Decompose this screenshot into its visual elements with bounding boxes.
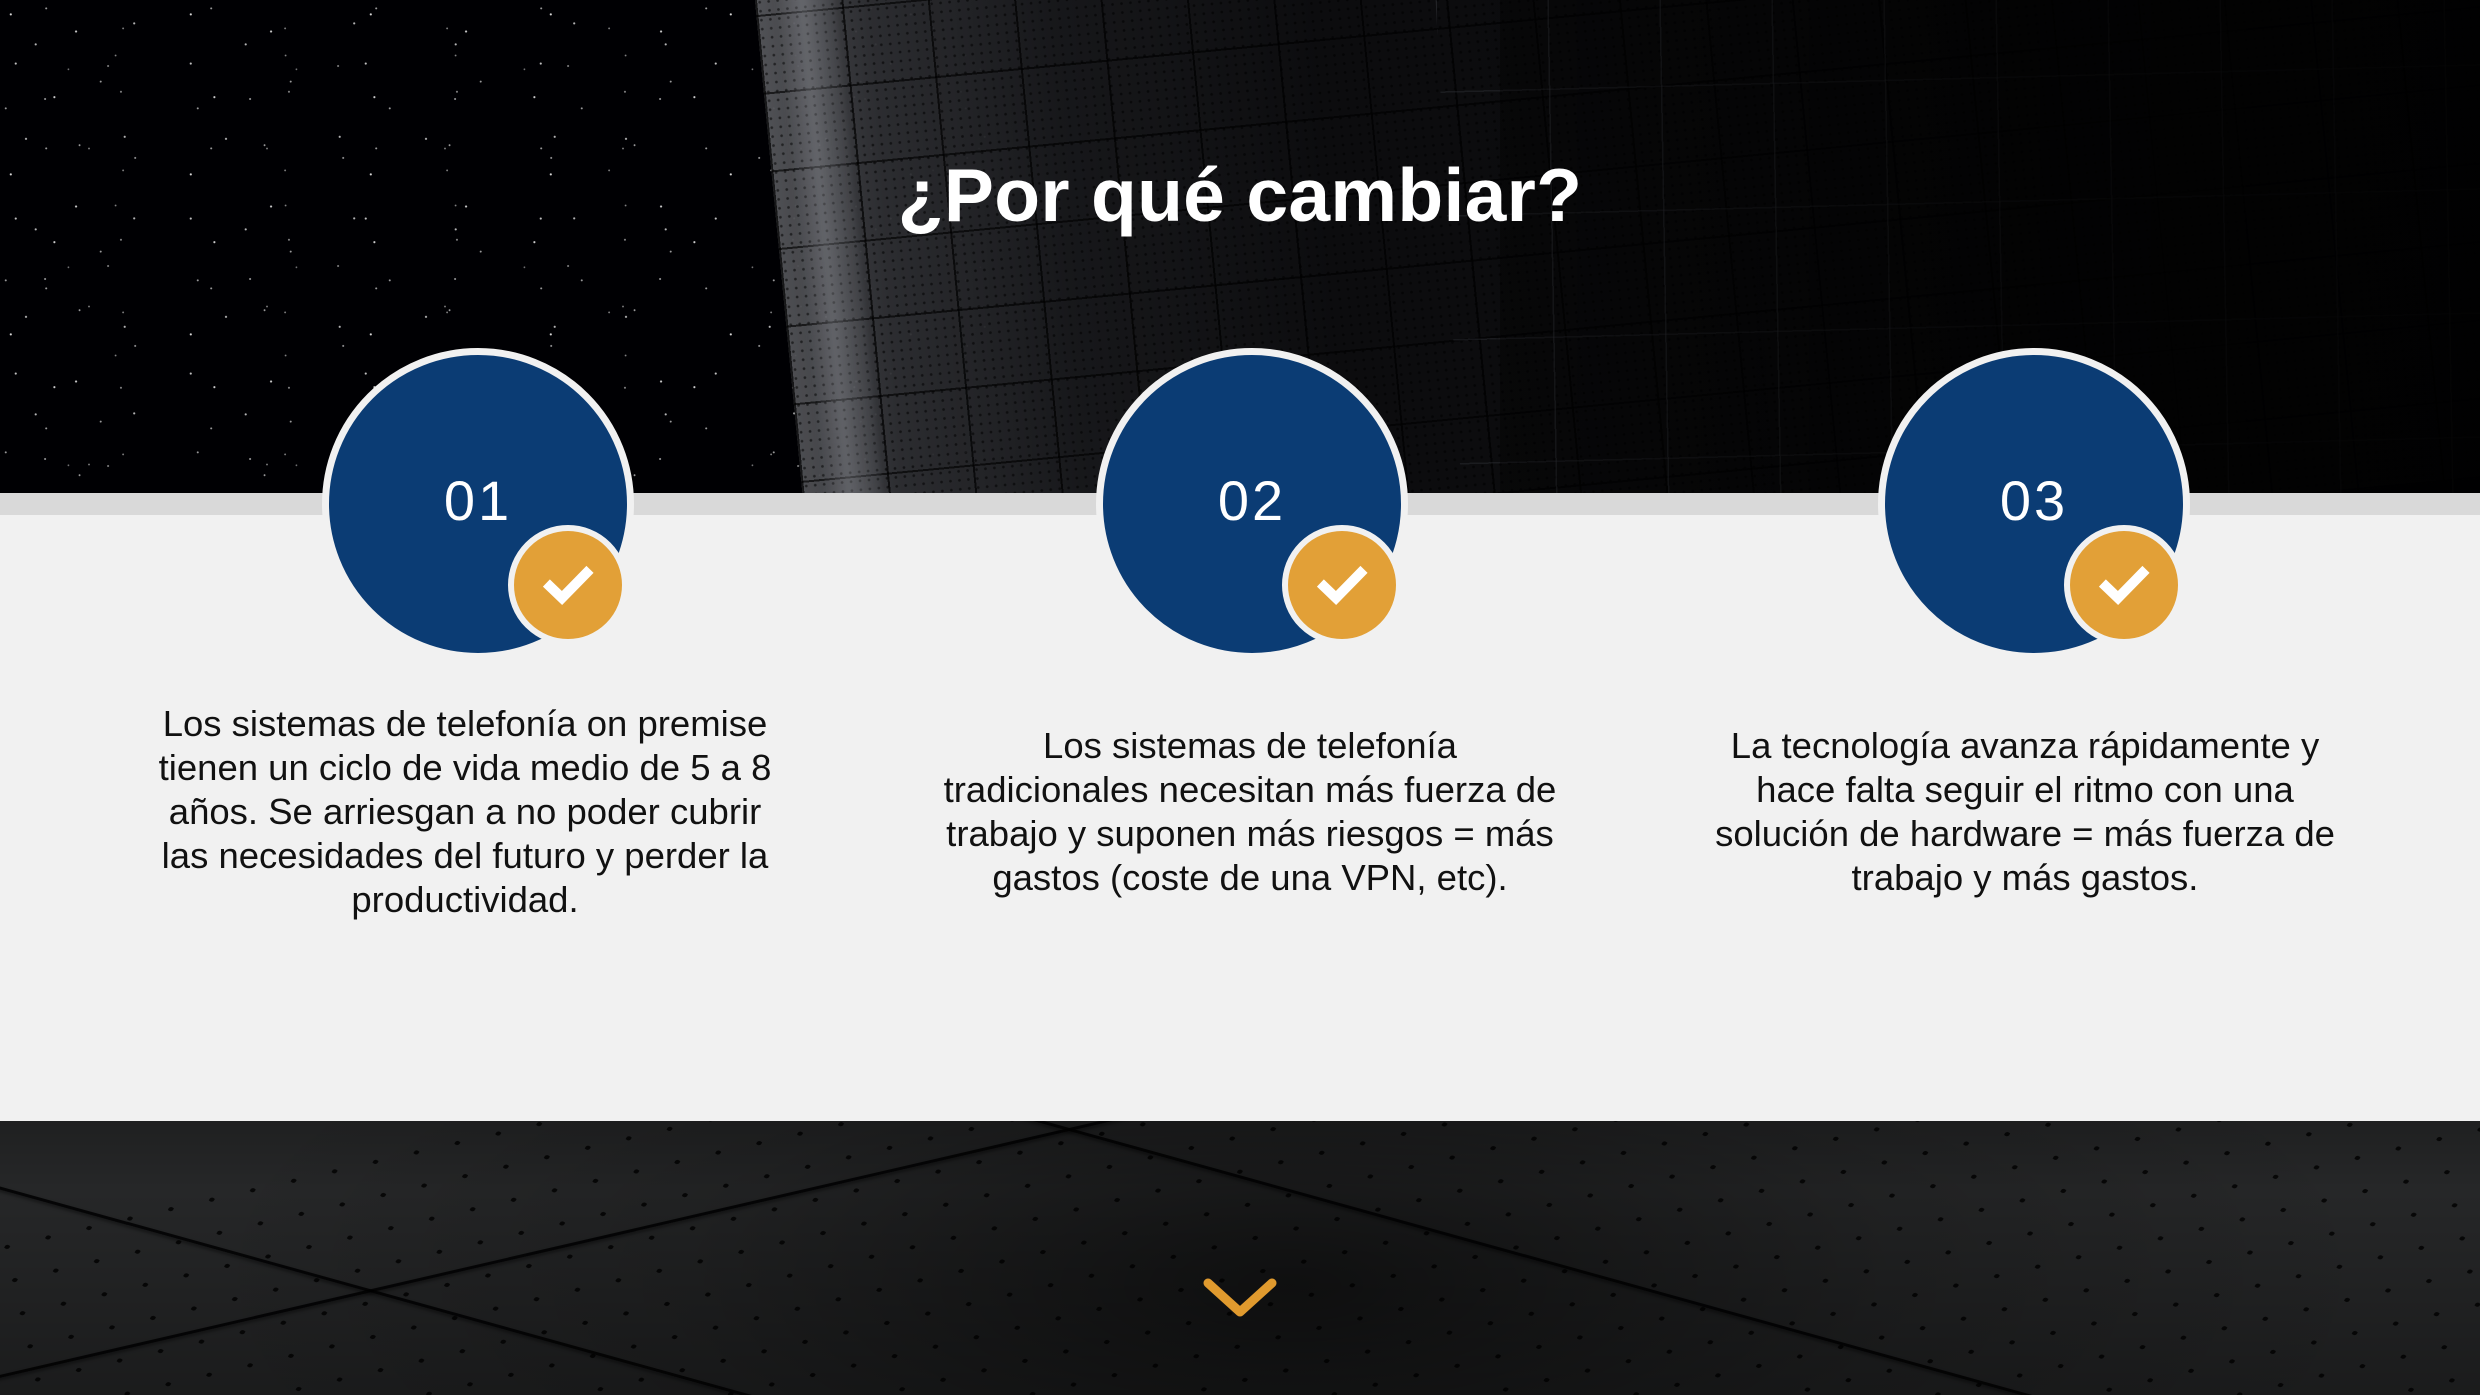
step-number-01: 01 <box>444 468 512 533</box>
step-number-02: 02 <box>1218 468 1286 533</box>
step-description-02: Los sistemas de telefonía tradicionales … <box>940 724 1560 900</box>
panel-vignette <box>0 1121 2480 1395</box>
step-badge-01[interactable]: 01 <box>322 348 634 660</box>
step-number-03: 03 <box>2000 468 2068 533</box>
check-icon <box>2064 525 2184 645</box>
background-perforated-panel <box>0 1121 2480 1395</box>
step-description-01: Los sistemas de telefonía on premise tie… <box>150 702 780 922</box>
slide-why-change: ¿Por qué cambiar? 01 02 <box>0 0 2480 1395</box>
check-icon <box>1282 525 1402 645</box>
step-badge-03[interactable]: 03 <box>1878 348 2190 660</box>
check-icon <box>508 525 628 645</box>
page-title: ¿Por qué cambiar? <box>0 158 2480 233</box>
step-description-03: La tecnología avanza rápidamente y hace … <box>1715 724 2335 900</box>
step-badge-02[interactable]: 02 <box>1096 348 1408 660</box>
chevron-down-icon[interactable] <box>1200 1275 1280 1321</box>
page-title-emphasis: cambiar? <box>1246 153 1582 237</box>
page-title-prefix: ¿Por qué <box>898 153 1247 237</box>
